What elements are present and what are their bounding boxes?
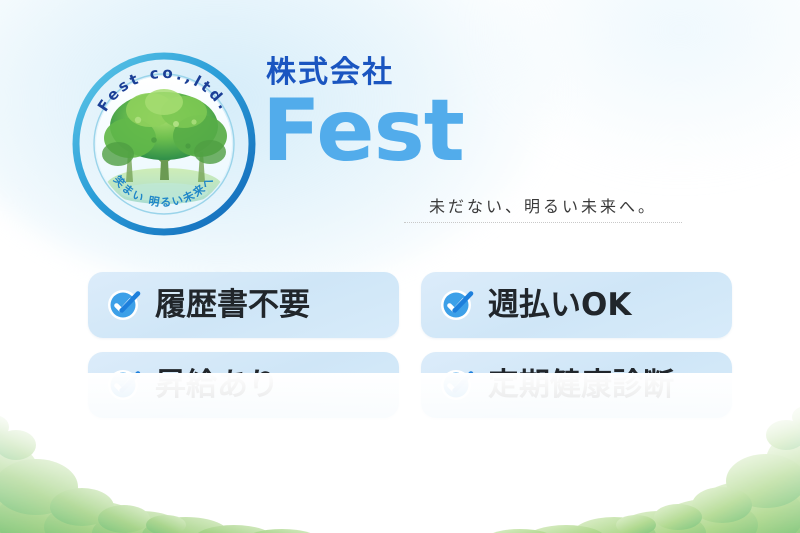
tagline-text: 未だない、明るい未来へ。	[404, 198, 682, 216]
feature-badge-label: 定期健康診断	[488, 370, 674, 401]
banner-header: Fest co.,ltd. 笑まい 明るい未来へ 株式会社 Fest 未だない、…	[0, 0, 800, 256]
check-circle-icon	[104, 285, 144, 325]
check-circle-icon	[104, 365, 144, 405]
company-seal-logo: Fest co.,ltd. 笑まい 明るい未来へ	[68, 48, 260, 240]
promo-banner: Fest co.,ltd. 笑まい 明るい未来へ 株式会社 Fest 未だない、…	[0, 0, 800, 533]
feature-badge-0[interactable]: 履歴書不要	[88, 272, 399, 338]
feature-badge-label: 昇給あり	[155, 370, 279, 401]
tagline-container: 未だない、明るい未来へ。	[404, 198, 682, 223]
check-circle-icon	[437, 365, 477, 405]
check-circle-icon	[437, 285, 477, 325]
feature-badge-1[interactable]: 週払いOK	[421, 272, 732, 338]
feature-badge-grid: 履歴書不要 週払いOK 昇給あり	[88, 272, 732, 418]
company-wordmark: 株式会社 Fest	[262, 58, 692, 173]
feature-badge-3[interactable]: 定期健康診断	[421, 352, 732, 418]
feature-badge-label: 週払いOK	[488, 290, 631, 321]
feature-badge-label: 履歴書不要	[155, 290, 310, 321]
company-name: Fest	[262, 90, 692, 173]
feature-badge-2[interactable]: 昇給あり	[88, 352, 399, 418]
